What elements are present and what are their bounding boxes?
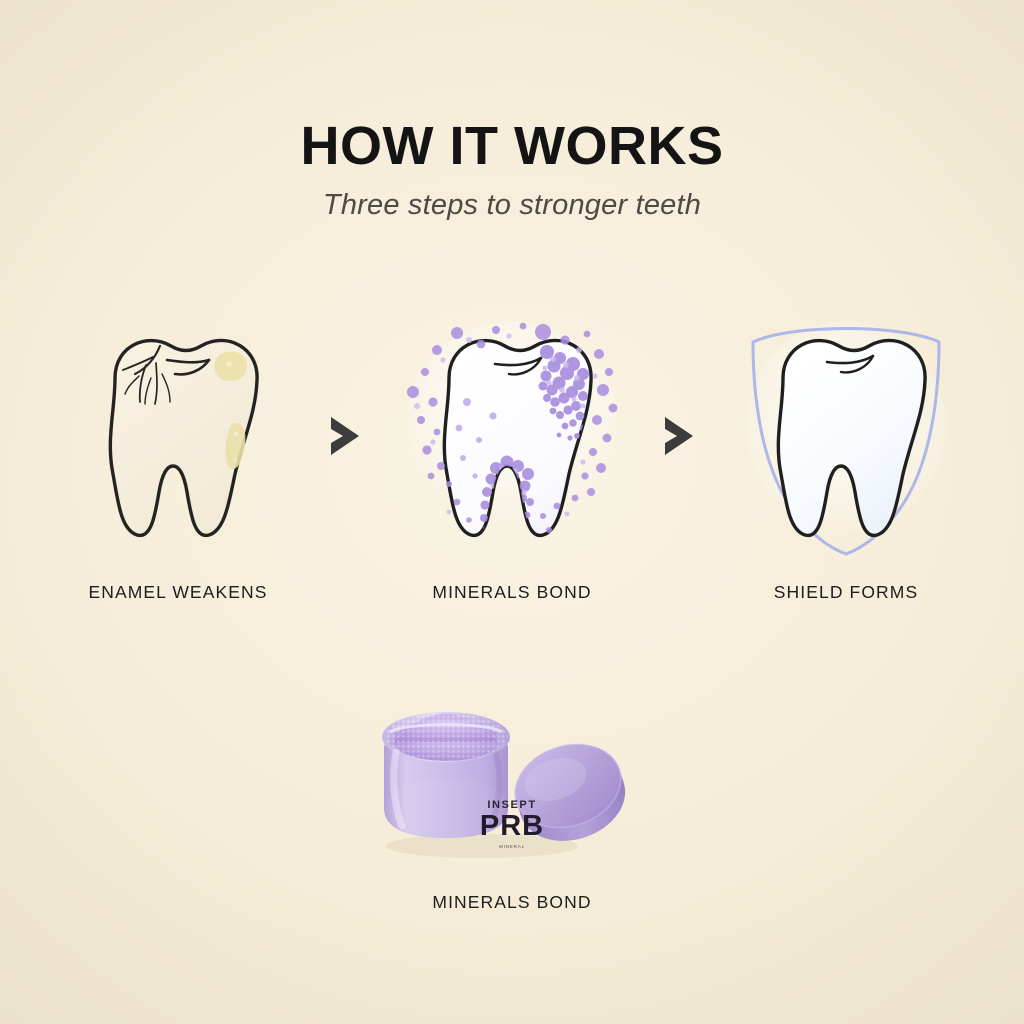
step-3-label: SHIELD FORMS: [774, 582, 918, 603]
cracked-stained-tooth-icon: [63, 316, 293, 556]
page-title: HOW IT WORKS: [0, 118, 1024, 175]
open-jar-with-powder-icon[interactable]: INSEPT PRB MINERAL: [372, 690, 652, 870]
tooth-with-shield-icon: [731, 316, 961, 556]
product-caption: MINERALS BOND: [432, 892, 591, 913]
chevron-right-icon: [314, 316, 376, 556]
step-3-shield-forms[interactable]: SHIELD FORMS: [710, 316, 982, 603]
chevron-right-icon: [648, 316, 710, 556]
step-1-enamel-weakens[interactable]: ENAMEL WEAKENS: [42, 316, 314, 603]
step-1-label: ENAMEL WEAKENS: [88, 582, 267, 603]
step-2-minerals-bond[interactable]: MINERALS BOND: [376, 316, 648, 603]
step-2-label: MINERALS BOND: [432, 582, 591, 603]
page-subtitle: Three steps to stronger teeth: [0, 189, 1024, 222]
tooth-with-mineral-particles-icon: [397, 316, 627, 556]
header: HOW IT WORKS Three steps to stronger tee…: [0, 118, 1024, 222]
steps-row: ENAMEL WEAKENS: [0, 316, 1024, 646]
infographic-canvas: HOW IT WORKS Three steps to stronger tee…: [0, 0, 1024, 1024]
product-section: INSEPT PRB MINERAL MINERALS BOND: [0, 690, 1024, 913]
